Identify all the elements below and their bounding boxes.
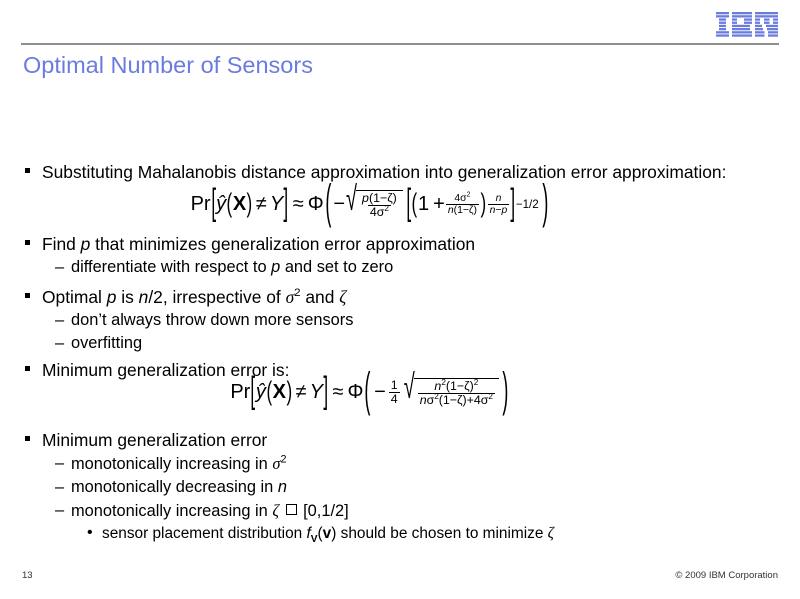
page-number: 13 <box>22 570 33 581</box>
square-bullet-icon <box>25 168 30 173</box>
sub-bullet-text: monotonically increasing in ζ [0,1/2] <box>71 502 349 520</box>
bullet-item: Minimum generalization error <box>18 428 782 452</box>
bullet-item: Substituting Mahalanobis distance approx… <box>18 160 782 184</box>
ibm-logo <box>716 12 778 37</box>
sub-bullet-item: – differentiate with respect to p and se… <box>18 256 782 279</box>
bullet-text: Optimal p is n/2, irrespective of σ2 and… <box>42 287 346 307</box>
bullet-group-min-error-props: Minimum generalization error – monotonic… <box>18 428 782 545</box>
square-bullet-icon <box>25 293 30 298</box>
sub-bullet-item: – don’t always throw down more sensors <box>18 309 782 332</box>
sub-sub-bullet-item: • sensor placement distribution fV(v) sh… <box>18 523 782 545</box>
copyright-notice: © 2009 IBM Corporation <box>675 570 778 581</box>
dash-bullet-icon: – <box>55 309 64 332</box>
sub-bullet-item: – monotonically increasing in ζ [0,1/2] <box>18 499 782 523</box>
square-bullet-icon <box>25 240 30 245</box>
square-bullet-icon <box>25 436 30 441</box>
page-title: Optimal Number of Sensors <box>23 50 313 80</box>
dash-bullet-icon: – <box>55 452 64 475</box>
dash-bullet-icon: – <box>55 332 64 355</box>
sub-bullet-item: – overfitting <box>18 332 782 355</box>
equation-minimum-generalization-error: Pr [ ŷ(X) ≠ Y ] ≈ Φ ( − 1 4 √ n2(1−ζ)2 … <box>0 378 740 408</box>
dash-bullet-icon: – <box>55 499 64 522</box>
dot-bullet-icon: • <box>87 522 93 544</box>
slide: Optimal Number of Sensors Substituting M… <box>0 0 800 599</box>
bullet-item: Optimal p is n/2, irrespective of σ2 and… <box>18 285 782 309</box>
bullet-item: Find p that minimizes generalization err… <box>18 232 782 256</box>
sub-bullet-text: monotonically increasing in σ2 <box>71 455 286 473</box>
sub-bullet-text: differentiate with respect to p and set … <box>71 258 393 276</box>
slide-body: Substituting Mahalanobis distance approx… <box>18 160 782 184</box>
sub-bullet-text: overfitting <box>71 334 142 352</box>
sub-bullet-item: – monotonically decreasing in n <box>18 476 782 499</box>
sub-bullet-text: monotonically decreasing in n <box>71 478 287 496</box>
header-divider <box>21 43 779 45</box>
sub-bullet-text: don’t always throw down more sensors <box>71 311 353 329</box>
square-bullet-icon <box>25 366 30 371</box>
dash-bullet-icon: – <box>55 476 64 499</box>
equation-generalization-error: Pr [ ŷ(X) ≠ Y ] ≈ Φ ( − √ p(1−ζ) 4σ2 [ … <box>0 190 740 220</box>
bullet-group-optimal-p: Optimal p is n/2, irrespective of σ2 and… <box>18 285 782 355</box>
bullet-text: Substituting Mahalanobis distance approx… <box>42 162 726 182</box>
bullet-text: Find p that minimizes generalization err… <box>42 234 475 254</box>
sub-sub-bullet-text: sensor placement distribution fV(v) shou… <box>102 525 554 542</box>
bullet-group-find-p: Find p that minimizes generalization err… <box>18 232 782 279</box>
sub-bullet-item: – monotonically increasing in σ2 <box>18 452 782 476</box>
dash-bullet-icon: – <box>55 256 64 279</box>
missing-glyph-box <box>286 504 297 515</box>
bullet-text: Minimum generalization error <box>42 430 267 450</box>
